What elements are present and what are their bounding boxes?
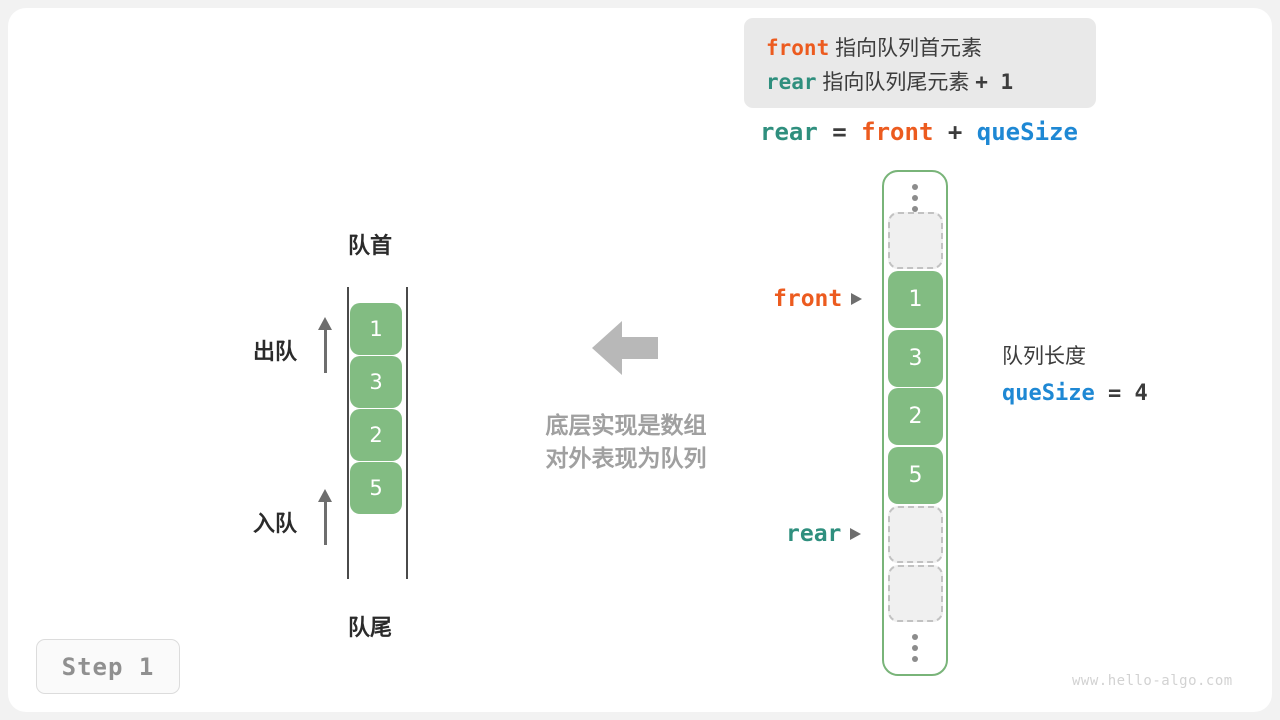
legend-front-token: front: [766, 36, 829, 60]
queue-rail-left: [347, 287, 349, 579]
array-cell-0[interactable]: [888, 212, 943, 269]
quesize-equals: =: [1108, 381, 1121, 406]
legend-rear-token: rear: [766, 70, 817, 94]
watermark: www.hello-algo.com: [1072, 673, 1233, 689]
center-note-line2: 对外表现为队列: [520, 443, 732, 476]
queue-cell-0[interactable]: 1: [350, 303, 402, 355]
formula-rear: rear: [760, 118, 818, 146]
rear-arrow-icon: [850, 528, 861, 540]
array-cell-2[interactable]: 3: [888, 330, 943, 387]
array-cell-4[interactable]: 5: [888, 447, 943, 504]
legend-rear-suffix: + 1: [975, 70, 1013, 94]
legend-box: front 指向队列首元素 rear 指向队列尾元素 + 1: [744, 18, 1096, 108]
formula-plus: +: [948, 118, 962, 146]
queue-rail-right: [406, 287, 408, 579]
formula-quesize: queSize: [977, 118, 1078, 146]
array-cell-6[interactable]: [888, 565, 943, 622]
enqueue-label: 入队: [253, 506, 297, 538]
diagram-canvas: front 指向队列首元素 rear 指向队列尾元素 + 1 rear = fr…: [0, 0, 1280, 720]
array-cell-5[interactable]: [888, 506, 943, 563]
front-pointer-label: front: [773, 286, 842, 312]
queue-size-label: 队列长度: [1002, 340, 1148, 370]
queue-cell-1[interactable]: 3: [350, 356, 402, 408]
enqueue-arrow-icon: [316, 489, 334, 545]
queue-head-label: 队首: [348, 228, 392, 260]
legend-rear-text: 指向队列尾元素: [822, 70, 969, 94]
front-arrow-icon: [851, 293, 862, 305]
rear-pointer-label: rear: [786, 521, 841, 547]
left-arrow-icon: [592, 321, 658, 375]
quesize-var: queSize: [1002, 381, 1095, 406]
queue-cell-2[interactable]: 2: [350, 409, 402, 461]
queue-size-note: 队列长度 queSize = 4: [1002, 340, 1148, 406]
ellipsis-bottom-icon: [912, 634, 918, 662]
ellipsis-top-icon: [912, 184, 918, 212]
center-note: 底层实现是数组 对外表现为队列: [520, 410, 732, 476]
formula-front: front: [861, 118, 933, 146]
quesize-value: 4: [1134, 381, 1147, 406]
queue-cell-3[interactable]: 5: [350, 462, 402, 514]
legend-line-front: front 指向队列首元素: [766, 32, 982, 62]
center-note-line1: 底层实现是数组: [520, 410, 732, 443]
queue-tail-label: 队尾: [348, 610, 392, 642]
front-pointer: front: [773, 286, 862, 312]
array-cell-1[interactable]: 1: [888, 271, 943, 328]
formula-equals: =: [832, 118, 846, 146]
array-cell-3[interactable]: 2: [888, 388, 943, 445]
step-badge: Step 1: [36, 639, 180, 694]
formula-line: rear = front + queSize: [760, 118, 1078, 146]
rear-pointer: rear: [786, 521, 861, 547]
dequeue-arrow-icon: [316, 317, 334, 373]
queue-size-expression: queSize = 4: [1002, 381, 1148, 406]
dequeue-label: 出队: [253, 334, 297, 366]
legend-front-text: 指向队列首元素: [835, 36, 982, 60]
legend-line-rear: rear 指向队列尾元素 + 1: [766, 66, 1013, 96]
